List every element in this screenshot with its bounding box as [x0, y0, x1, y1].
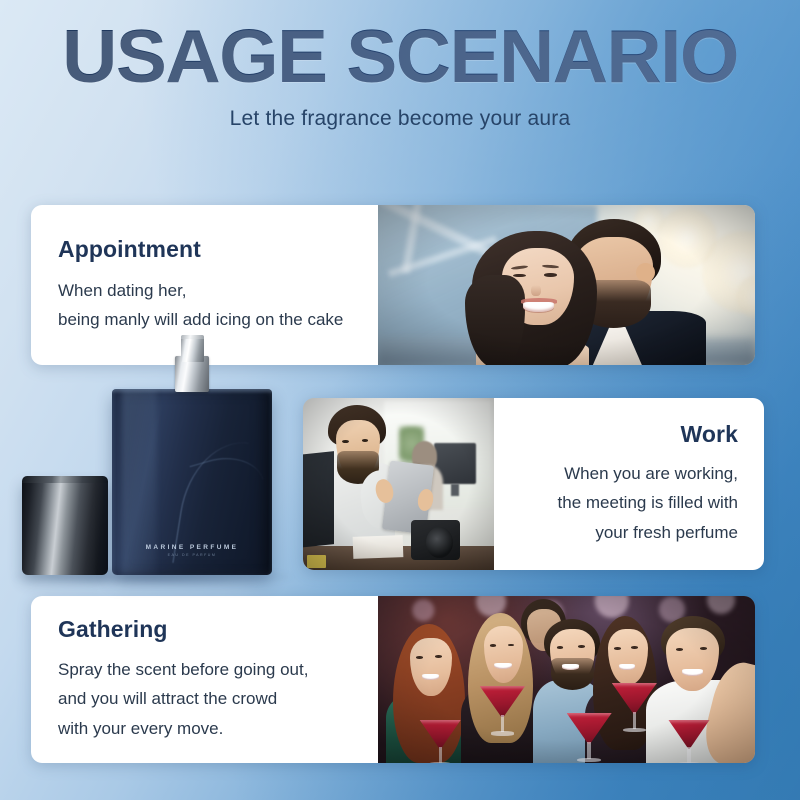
poster-header: USAGE SCENARIO Let the fragrance become … — [0, 0, 800, 131]
cocktail-stem — [439, 747, 442, 763]
scenario-card-gathering: Gathering Spray the scent before going o… — [31, 596, 378, 763]
brand-name: MARINE PERFUME — [112, 544, 272, 551]
guest-eye — [700, 647, 708, 650]
camera-lens — [426, 527, 453, 558]
bottle-label: MARINE PERFUME EAU DE PARFUM — [112, 544, 272, 557]
scenario-photo-work — [303, 398, 495, 570]
guest-eye — [416, 656, 423, 659]
cocktail-bowl — [567, 713, 612, 744]
scenario-text-line: Spray the scent before going out, — [58, 655, 378, 684]
perfume-spray-nozzle — [181, 336, 204, 362]
cocktail-bowl — [612, 683, 657, 714]
woman-nose — [531, 285, 541, 296]
scenario-text-line: being manly will add icing on the cake — [58, 305, 378, 334]
cocktail-glass — [419, 720, 460, 763]
work-photo-illustration — [303, 398, 495, 570]
monitor-stand — [451, 484, 459, 496]
perfume-bottle: MARINE PERFUME EAU DE PARFUM — [112, 389, 272, 575]
cocktail-base — [429, 762, 451, 763]
perfume-spray-top — [181, 335, 204, 339]
sticky-notes — [307, 555, 326, 569]
scenario-heading-appointment: Appointment — [58, 236, 378, 263]
scenario-text-line: the meeting is filled with — [494, 488, 738, 517]
scenario-photo-appointment — [378, 205, 755, 365]
cocktail-stem — [587, 742, 591, 759]
perfume-cap-top — [22, 476, 108, 483]
cocktail-glass — [480, 686, 525, 736]
cocktail-glass — [668, 720, 709, 763]
scenario-row-work: Work When you are working, the meeting i… — [303, 398, 765, 570]
guest-eye — [676, 648, 684, 651]
scenario-text-line: your fresh perfume — [494, 518, 738, 547]
desk-papers — [353, 535, 404, 559]
usage-scenario-poster: USAGE SCENARIO Let the fragrance become … — [0, 0, 800, 800]
laptop-device — [303, 451, 334, 548]
scenario-photo-gathering — [378, 596, 755, 763]
guest-eye — [614, 647, 621, 650]
cocktail-stem — [687, 747, 690, 763]
cocktail-glass — [612, 683, 657, 733]
cocktail-bowl — [419, 720, 460, 749]
brand-sublabel: EAU DE PARFUM — [112, 553, 272, 557]
cocktail-base — [678, 762, 700, 763]
scenario-heading-work: Work — [494, 421, 738, 448]
guest-beard — [551, 658, 594, 690]
cocktail-base — [577, 758, 601, 763]
cocktail-stem — [633, 712, 637, 729]
man-eye — [342, 440, 349, 443]
page-title: USAGE SCENARIO — [0, 18, 800, 95]
cocktail-glass — [567, 713, 612, 763]
cocktail-bowl — [668, 720, 709, 749]
scenario-heading-gathering: Gathering — [58, 616, 378, 643]
guest-eye — [435, 655, 442, 658]
scenario-text-line: with your every move. — [58, 714, 378, 743]
man-ear — [636, 263, 655, 282]
scenario-text-line: When you are working, — [494, 459, 738, 488]
cocktail-base — [623, 728, 647, 733]
woman-eye — [544, 273, 556, 277]
cocktail-stem — [501, 715, 505, 732]
couple-photo-illustration — [378, 205, 755, 365]
perfume-product-image: MARINE PERFUME EAU DE PARFUM — [0, 340, 300, 600]
cocktail-base — [491, 731, 515, 736]
scenario-card-work: Work When you are working, the meeting i… — [494, 398, 764, 570]
scenario-text-line: and you will attract the crowd — [58, 684, 378, 713]
scenario-text-line: When dating her, — [58, 276, 378, 305]
guest-eye — [557, 646, 564, 649]
guest-eye — [631, 646, 638, 649]
guest-eye — [578, 645, 585, 648]
scenario-row-gathering: Gathering Spray the scent before going o… — [31, 596, 755, 763]
party-photo-illustration — [378, 596, 755, 763]
cocktail-bowl — [480, 686, 525, 717]
page-subtitle: Let the fragrance become your aura — [0, 107, 800, 131]
perfume-cap — [22, 478, 108, 575]
